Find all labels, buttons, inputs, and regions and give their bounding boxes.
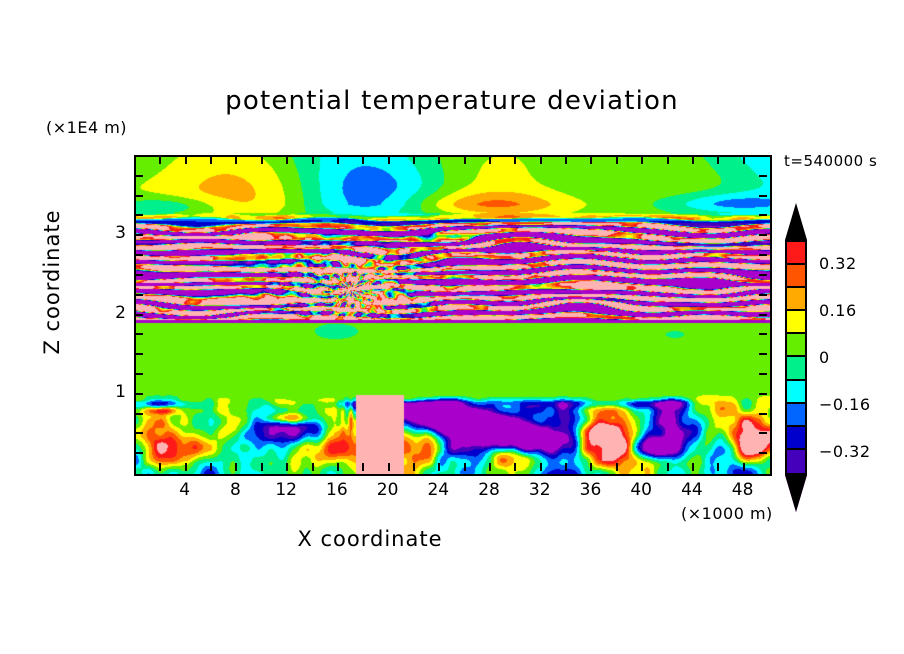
y-tick-left	[135, 214, 143, 216]
colorbar-cap-high	[785, 203, 807, 240]
colorbar-tick-label: 0.16	[819, 301, 857, 320]
y-tick-right	[759, 294, 767, 296]
y-tick-left	[135, 314, 143, 316]
x-tick-bottom	[667, 463, 669, 471]
colorbar-band	[787, 450, 805, 473]
y-tick-label: 2	[100, 303, 126, 323]
y-tick-right	[759, 373, 767, 375]
x-tick-top	[312, 156, 314, 164]
x-tick-bottom	[337, 463, 339, 471]
x-tick-top	[362, 156, 364, 164]
x-tick-top	[235, 156, 237, 164]
colorbar-band	[787, 357, 805, 380]
y-tick-left	[135, 274, 143, 276]
x-tick-label: 24	[418, 480, 458, 500]
colorbar-band	[787, 381, 805, 404]
x-tick-bottom	[312, 463, 314, 471]
x-tick-bottom	[641, 463, 643, 471]
x-tick-top	[185, 156, 187, 164]
x-tick-top	[388, 156, 390, 164]
y-tick-left	[135, 373, 143, 375]
x-tick-bottom	[185, 463, 187, 471]
x-tick-label: 12	[266, 480, 306, 500]
plot-area	[134, 155, 772, 476]
colorbar-tick-label: −0.16	[819, 395, 871, 414]
x-tick-top	[565, 156, 567, 164]
colorbar-band	[787, 311, 805, 334]
x-tick-label: 8	[215, 480, 255, 500]
x-tick-top	[692, 156, 694, 164]
x-tick-bottom	[286, 463, 288, 471]
colorbar-band	[787, 427, 805, 450]
x-tick-bottom	[464, 463, 466, 471]
x-tick-bottom	[590, 463, 592, 471]
x-tick-label: 4	[165, 480, 205, 500]
x-tick-bottom	[717, 463, 719, 471]
x-tick-top	[413, 156, 415, 164]
colorbar-band	[787, 242, 805, 265]
y-tick-right	[759, 353, 767, 355]
y-tick-right	[759, 214, 767, 216]
colorbar-band	[787, 265, 805, 288]
page-title: potential temperature deviation	[0, 86, 904, 116]
x-tick-bottom	[489, 463, 491, 471]
colorbar-bands	[785, 240, 807, 475]
colorbar-band	[787, 334, 805, 357]
y-axis-unit-label: (×1E4 m)	[46, 118, 127, 137]
y-tick-label: 1	[100, 382, 126, 402]
y-tick-right	[759, 432, 767, 434]
x-tick-label: 28	[469, 480, 509, 500]
x-tick-bottom	[388, 463, 390, 471]
x-tick-label: 32	[520, 480, 560, 500]
colorbar-band	[787, 288, 805, 311]
x-tick-top	[159, 156, 161, 164]
x-tick-top	[489, 156, 491, 164]
x-tick-bottom	[438, 463, 440, 471]
x-tick-top	[261, 156, 263, 164]
x-tick-bottom	[514, 463, 516, 471]
x-tick-bottom	[616, 463, 618, 471]
x-tick-top	[286, 156, 288, 164]
x-tick-top	[616, 156, 618, 164]
x-tick-bottom	[235, 463, 237, 471]
y-tick-left	[135, 333, 143, 335]
colorbar-cap-low	[785, 475, 807, 512]
x-tick-bottom	[692, 463, 694, 471]
y-tick-right	[759, 452, 767, 454]
x-tick-top	[210, 156, 212, 164]
x-tick-top	[717, 156, 719, 164]
y-tick-right	[759, 393, 767, 395]
x-axis-label: X coordinate	[0, 527, 740, 551]
y-axis-label: Z coordinate	[40, 192, 64, 372]
y-tick-left	[135, 452, 143, 454]
colorbar-tick-label: 0	[819, 348, 830, 367]
x-tick-label: 36	[570, 480, 610, 500]
y-tick-right	[759, 175, 767, 177]
x-tick-label: 48	[723, 480, 763, 500]
x-tick-top	[641, 156, 643, 164]
timestamp-annotation: t=540000 s	[784, 152, 877, 170]
x-tick-bottom	[743, 463, 745, 471]
colorbar-cap-outline	[783, 473, 809, 514]
x-tick-top	[514, 156, 516, 164]
y-tick-left	[135, 175, 143, 177]
x-tick-top	[590, 156, 592, 164]
x-tick-bottom	[413, 463, 415, 471]
y-tick-left	[135, 353, 143, 355]
y-tick-right	[759, 254, 767, 256]
x-tick-top	[464, 156, 466, 164]
y-tick-left	[135, 234, 143, 236]
x-tick-bottom	[362, 463, 364, 471]
contour-field	[136, 157, 770, 474]
x-tick-label: 40	[621, 480, 661, 500]
x-tick-bottom	[565, 463, 567, 471]
y-tick-left	[135, 195, 143, 197]
x-tick-bottom	[540, 463, 542, 471]
x-tick-label: 44	[672, 480, 712, 500]
x-tick-top	[438, 156, 440, 164]
colorbar: 0.320.160−0.16−0.32	[779, 203, 813, 523]
x-tick-top	[337, 156, 339, 164]
x-tick-top	[743, 156, 745, 164]
colorbar-band	[787, 404, 805, 427]
x-tick-label: 16	[317, 480, 357, 500]
y-tick-right	[759, 333, 767, 335]
y-tick-right	[759, 274, 767, 276]
colorbar-cap-outline	[783, 201, 809, 242]
colorbar-tick-label: 0.32	[819, 254, 857, 273]
y-tick-right	[759, 234, 767, 236]
y-tick-right	[759, 195, 767, 197]
contour-plot-page: potential temperature deviation (×1E4 m)…	[0, 0, 904, 654]
y-tick-left	[135, 254, 143, 256]
x-tick-top	[667, 156, 669, 164]
y-tick-right	[759, 413, 767, 415]
x-tick-label: 20	[368, 480, 408, 500]
x-tick-bottom	[261, 463, 263, 471]
x-tick-top	[540, 156, 542, 164]
y-tick-left	[135, 432, 143, 434]
colorbar-tick-label: −0.32	[819, 442, 871, 461]
x-axis-unit-label: (×1000 m)	[681, 504, 773, 523]
y-tick-right	[759, 314, 767, 316]
x-tick-bottom	[210, 463, 212, 471]
y-tick-left	[135, 393, 143, 395]
y-tick-left	[135, 294, 143, 296]
x-tick-bottom	[159, 463, 161, 471]
y-tick-label: 3	[100, 223, 126, 243]
y-tick-left	[135, 413, 143, 415]
